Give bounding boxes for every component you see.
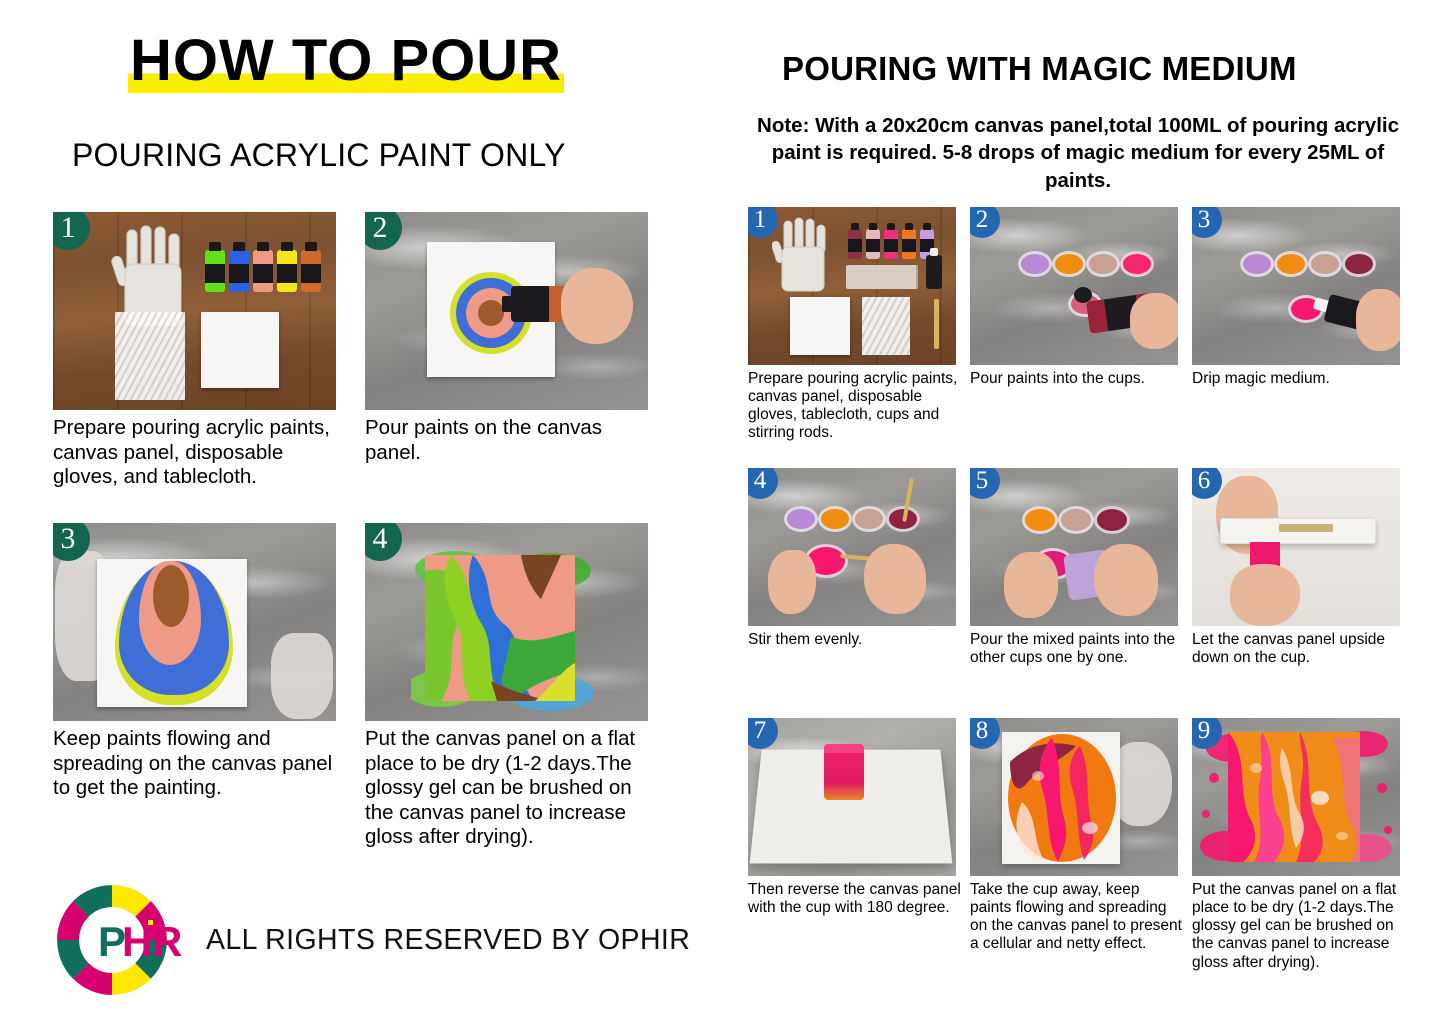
left-step-4: 4 Put the canvas panel on a flat place t… [365, 523, 655, 850]
canvas-panel [201, 312, 279, 388]
canvas-panel [1220, 518, 1376, 544]
hand-lower [1230, 564, 1300, 626]
right-step-6: 6 Let the canvas panel upside down on th… [1192, 468, 1407, 667]
right-step-1-caption: Prepare pouring acrylic paints, canvas p… [748, 370, 963, 443]
cup-purple [1240, 251, 1274, 277]
hand-right [1094, 544, 1158, 616]
cup-orange [1022, 506, 1058, 534]
left-step-1-photo: 1 [53, 212, 336, 410]
paint-oval-brown [153, 565, 189, 627]
hand [1130, 293, 1178, 349]
right-step-8: 8 Take the cup away, keep paints flowing… [970, 718, 1185, 954]
stirring-rod [934, 299, 939, 349]
paint-bottle-2 [866, 229, 880, 259]
cup-darkred [1094, 506, 1130, 534]
svg-text:H: H [122, 918, 152, 965]
right-step-7-photo: 7 [748, 718, 956, 876]
paint-bottle-3 [884, 229, 898, 259]
cup-orange [1274, 251, 1308, 277]
cup-purple [784, 506, 818, 532]
paint-bottle-orange [301, 250, 321, 292]
finished-painting-left [411, 541, 593, 717]
right-step-1: 1 Prepare pouring acrylic paints, canvas… [748, 207, 963, 443]
magic-medium-bottle [926, 255, 942, 289]
hand-left [768, 550, 816, 614]
right-step-3-caption: Drip magic medium. [1192, 370, 1407, 388]
cup-rosegold [852, 506, 886, 532]
left-step-1: 1 Prepare pouring acrylic paints, canvas… [53, 212, 343, 490]
right-step-9-photo: 9 [1192, 718, 1400, 876]
left-step-3-photo: 3 [53, 523, 336, 721]
right-step-8-photo: 8 [970, 718, 1178, 876]
right-step-3: 3 Drip magic medium. [1192, 207, 1407, 388]
right-section-note: Note: With a 20x20cm canvas panel,total … [748, 112, 1408, 194]
right-step-4-caption: Stir them evenly. [748, 631, 963, 649]
right-step-4: 4 Stir them evenly. [748, 468, 963, 649]
left-step-2: 2 Pour paints on the canvas panel. [365, 212, 655, 465]
infographic-page: HOW TO POUR POURING ACRYLIC PAINT ONLY P… [0, 0, 1440, 1015]
right-section-title: POURING WITH MAGIC MEDIUM [782, 50, 1297, 88]
paint-center-brown [478, 300, 504, 326]
right-step-8-caption: Take the cup away, keep paints flowing a… [970, 881, 1185, 954]
page-title: HOW TO POUR [128, 32, 564, 90]
right-step-9-caption: Put the canvas panel on a flat place to … [1192, 881, 1407, 972]
right-step-9: 9 Put the canvas panel on a flat place t… [1192, 718, 1407, 972]
hand [1356, 289, 1400, 351]
paint-bottle-blue [229, 250, 249, 292]
tablecloth [862, 297, 910, 355]
paint-bottle-pink [253, 250, 273, 292]
right-step-4-photo: 4 [748, 468, 956, 626]
finished-pour-painting [1192, 718, 1400, 876]
paint-bottle-1 [848, 229, 862, 259]
cup-rosegold [1058, 506, 1094, 534]
gloved-hand-right [271, 633, 333, 719]
copyright-text: ALL RIGHTS RESERVED BY OPHIR [206, 924, 690, 957]
left-step-2-caption: Pour paints on the canvas panel. [365, 416, 655, 465]
cup-darkred [1342, 251, 1376, 277]
right-step-2-caption: Pour paints into the cups. [970, 370, 1185, 388]
hand [561, 268, 633, 344]
left-step-3-caption: Keep paints flowing and spreading on the… [53, 727, 343, 801]
paint-bottle-green [205, 250, 225, 292]
page-title-text: HOW TO POUR [128, 28, 564, 93]
pour-painting [1002, 732, 1120, 864]
ophir-logo-icon: P H R [56, 884, 188, 996]
right-step-7-caption: Then reverse the canvas panel with the c… [748, 881, 963, 917]
right-step-5-caption: Pour the mixed paints into the other cup… [970, 631, 1185, 667]
left-step-1-caption: Prepare pouring acrylic paints, canvas p… [53, 416, 343, 490]
cup-rosegold [1086, 251, 1120, 277]
paint-bottle-yellow [277, 250, 297, 292]
right-step-3-photo: 3 [1192, 207, 1400, 365]
cup-purple [1018, 251, 1052, 277]
cup-rosegold [1308, 251, 1342, 277]
upside-down-cup [824, 744, 864, 800]
svg-text:R: R [152, 918, 182, 965]
right-step-5: 5 Pour the mixed paints into the other c… [970, 468, 1185, 667]
hand-right [864, 544, 926, 614]
left-step-4-photo: 4 [365, 523, 648, 721]
right-step-7: 7 Then reverse the canvas panel with the… [748, 718, 963, 917]
right-step-2-photo: 2 [970, 207, 1178, 365]
right-step-6-caption: Let the canvas panel upside down on the … [1192, 631, 1407, 667]
left-section-title: POURING ACRYLIC PAINT ONLY [72, 137, 566, 174]
right-step-2: 2 Pour paints into the cups. [970, 207, 1185, 388]
right-step-1-photo: 1 [748, 207, 956, 365]
footer-logo-area: P H R ALL RIGHTS RESERVED BY OPHIR [56, 884, 690, 996]
tablecloth [115, 312, 185, 400]
canvas-panel [790, 297, 850, 355]
right-step-6-photo: 6 [1192, 468, 1400, 626]
plastic-cups-row [846, 265, 918, 289]
cup-orange [818, 506, 852, 532]
cup-pink [1120, 251, 1154, 277]
left-step-3: 3 Keep paints flowing and spreading on t… [53, 523, 343, 801]
left-step-2-photo: 2 [365, 212, 648, 410]
right-step-5-photo: 5 [970, 468, 1178, 626]
hand-left [1004, 552, 1058, 618]
cup-orange [1052, 251, 1086, 277]
left-step-4-caption: Put the canvas panel on a flat place to … [365, 727, 655, 850]
disposable-glove-icon [772, 217, 834, 293]
paint-bottle-4 [902, 229, 916, 259]
